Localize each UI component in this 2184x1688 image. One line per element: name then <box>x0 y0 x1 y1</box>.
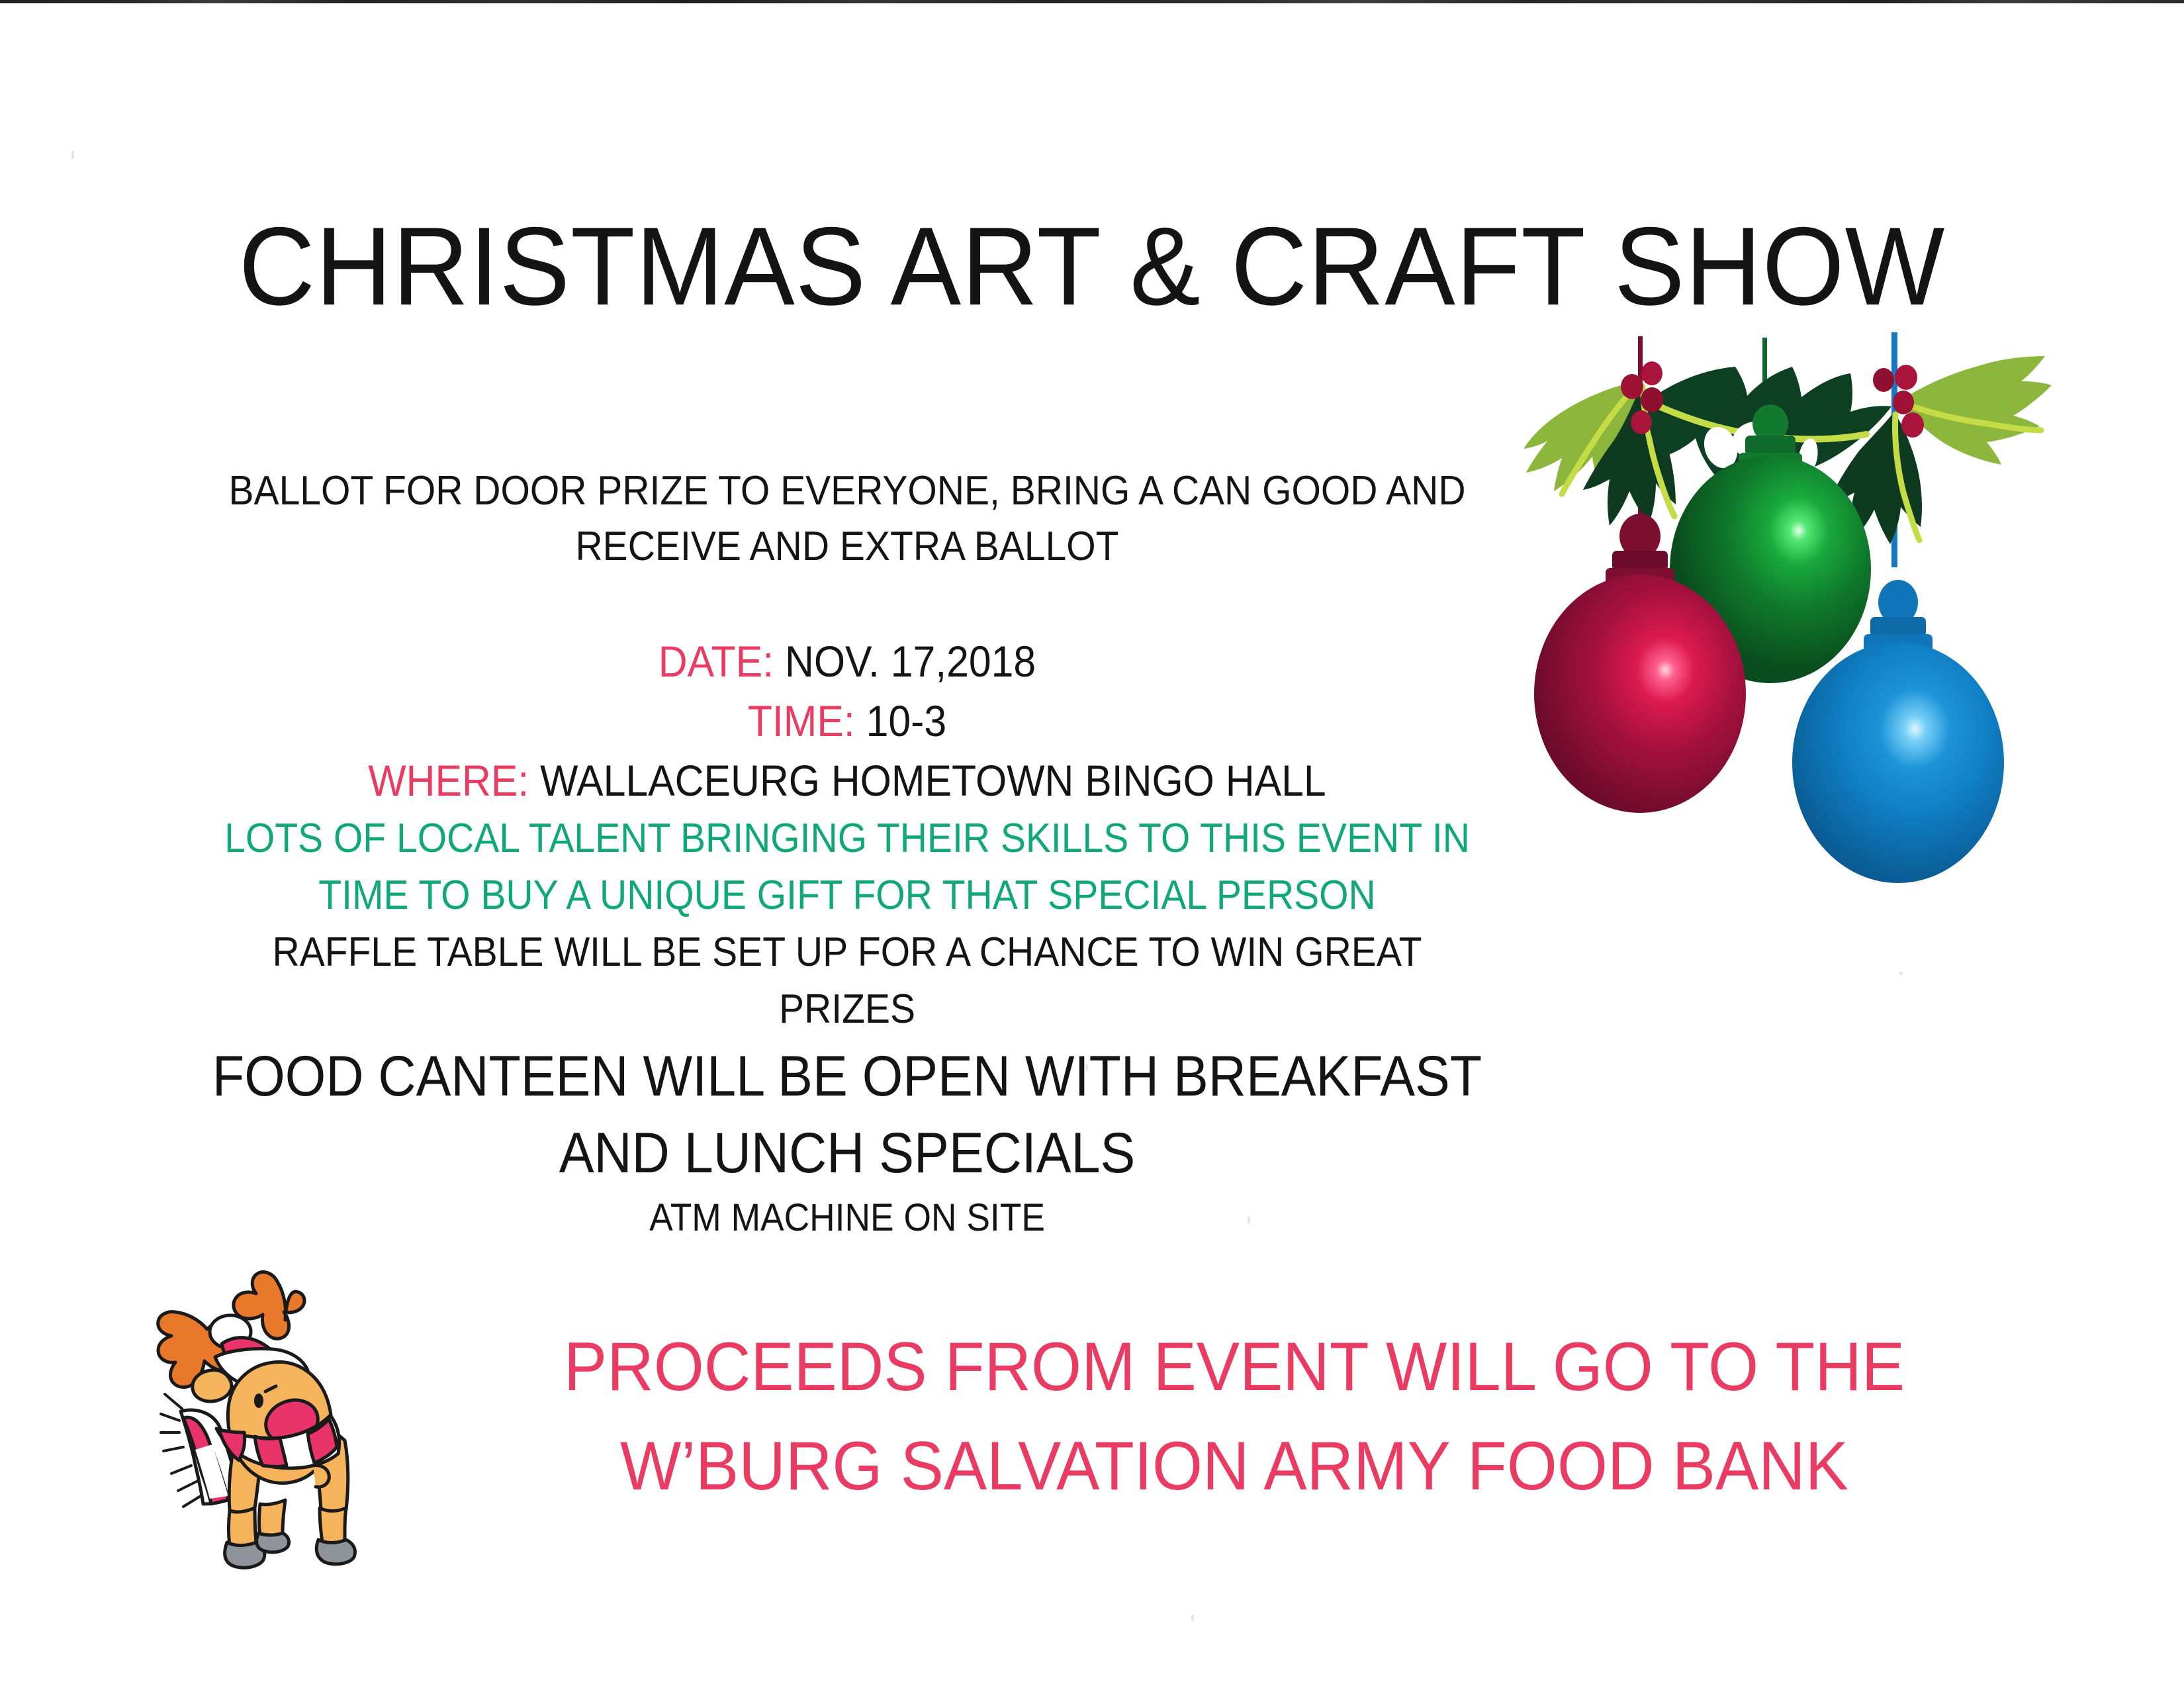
talent-line-1: LOTS OF LOCAL TALENT BRINGING THEIR SKIL… <box>189 810 1504 867</box>
scan-speck <box>1085 1064 1088 1071</box>
reindeer-leg-back-right <box>320 1508 346 1544</box>
scan-speck <box>1191 1615 1194 1621</box>
reindeer-ear <box>193 1370 232 1401</box>
canteen-line-1: FOOD CANTEEN WILL BE OPEN WITH BREAKFAST <box>189 1038 1504 1115</box>
raffle-line-2: PRIZES <box>189 981 1504 1038</box>
canteen-line-2: AND LUNCH SPECIALS <box>189 1115 1504 1192</box>
time-value: 10-3 <box>866 696 947 745</box>
holly-berry <box>1641 361 1662 385</box>
raffle-line-1: RAFFLE TABLE WILL BE SET UP FOR A CHANCE… <box>189 924 1504 981</box>
reindeer-eye <box>254 1393 263 1408</box>
scan-speck <box>1899 972 1903 975</box>
where-label: WHERE: <box>368 756 529 805</box>
where-value: WALLACEURG HOMETOWN BINGO HALL <box>540 756 1326 805</box>
date-value: NOV. 17,2018 <box>785 637 1036 686</box>
reindeer-leg-back-left <box>229 1508 257 1546</box>
time-line: TIME: 10-3 <box>189 691 1504 751</box>
reindeer-tail <box>313 1466 329 1487</box>
scarf-stripe <box>255 1436 287 1467</box>
proceeds-block: PROCEEDS FROM EVENT WILL GO TO THE W’BUR… <box>463 1317 2005 1516</box>
reindeer-with-santa-hat-clipart <box>122 1251 387 1595</box>
talent-line-2: TIME TO BUY A UNIQUE GIFT FOR THAT SPECI… <box>189 867 1504 924</box>
ballot-line-2: RECEIVE AND EXTRA BALLOT <box>189 519 1504 575</box>
holly-berry <box>1901 412 1924 438</box>
page-title: CHRISTMAS ART & CRAFT SHOW <box>55 211 2130 322</box>
scan-edge-artifact <box>0 0 2184 3</box>
spacer <box>132 575 1562 632</box>
holly-berry <box>1631 410 1652 434</box>
scan-speck <box>71 151 74 159</box>
christmas-ornaments-holly-clipart <box>1509 318 2052 887</box>
holly-berry <box>1893 391 1914 414</box>
ballot-line-1: BALLOT FOR DOOR PRIZE TO EVERYONE, BRING… <box>189 463 1504 519</box>
time-label: TIME: <box>748 696 855 745</box>
flyer-body-text: BALLOT FOR DOOR PRIZE TO EVERYONE, BRING… <box>132 463 1562 1244</box>
date-line: DATE: NOV. 17,2018 <box>189 632 1504 691</box>
scan-speck <box>1248 1217 1250 1224</box>
date-label: DATE: <box>659 637 774 686</box>
holly-berry <box>1641 387 1663 412</box>
where-line: WHERE: WALLACEURG HOMETOWN BINGO HALL <box>189 751 1504 810</box>
holly-berry <box>1895 365 1917 390</box>
holly-berry <box>1873 368 1894 392</box>
reindeer-leg-front-left <box>259 1500 286 1537</box>
proceeds-line-1: PROCEEDS FROM EVENT WILL GO TO THE <box>510 1317 1959 1417</box>
holly-berry <box>1621 374 1643 399</box>
flyer-page: CHRISTMAS ART & CRAFT SHOW BALLOT FOR DO… <box>0 0 2184 1688</box>
proceeds-line-2: W’BURG SALVATION ARMY FOOD BANK <box>510 1417 1959 1516</box>
atm-line: ATM MACHINE ON SITE <box>189 1192 1504 1244</box>
reindeer-hoof <box>316 1540 355 1564</box>
reindeer-hoof <box>257 1533 289 1552</box>
